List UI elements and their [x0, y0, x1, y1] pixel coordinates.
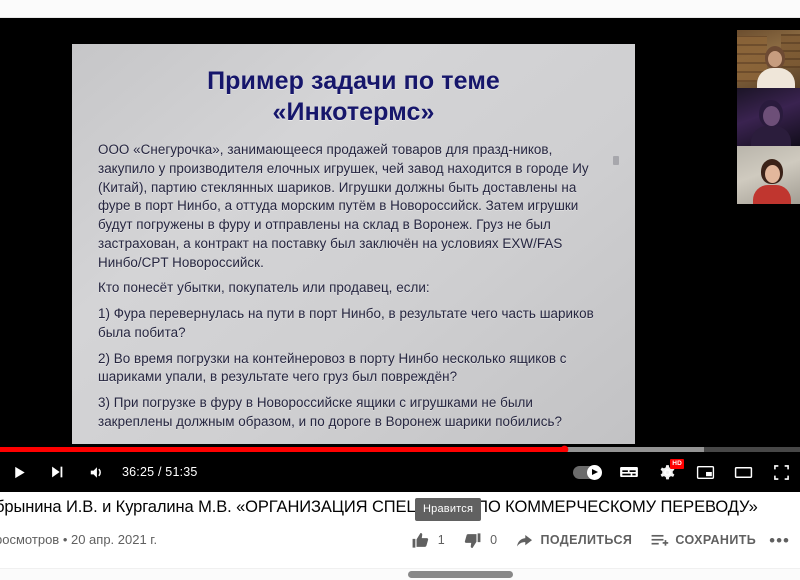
video-views-and-date: просмотров • 20 апр. 2021 г. [0, 532, 157, 547]
share-label: ПОДЕЛИТЬСЯ [540, 533, 632, 547]
page-top-strip [0, 0, 800, 18]
next-video-button[interactable] [38, 452, 76, 492]
video-player[interactable]: Пример задачи по теме «Инкотермс» ООО «С… [0, 18, 800, 492]
slide-prompt: Кто понесёт убытки, покупатель или прода… [98, 279, 609, 298]
like-button[interactable]: 1 [402, 526, 454, 554]
slide-question-2: 2) Во время погрузки на контейнеровоз в … [98, 350, 609, 388]
slide-question-3: 3) При погрузке в фуру в Новороссийске я… [98, 394, 609, 432]
play-icon [11, 464, 28, 481]
save-button[interactable]: СОХРАНИТЬ [641, 526, 765, 554]
webcam-column [728, 18, 800, 452]
share-button[interactable]: ПОДЕЛИТЬСЯ [506, 526, 641, 554]
participant-torso [757, 68, 795, 88]
slide-body: ООО «Снегурочка», занимающееся продажей … [98, 141, 609, 432]
slide-title: Пример задачи по теме «Инкотермс» [98, 66, 609, 127]
slide-paragraph-1: ООО «Снегурочка», занимающееся продажей … [98, 141, 609, 272]
participant-face [768, 51, 782, 67]
time-display: 36:25 / 51:35 [114, 465, 204, 479]
thumbs-up-icon [411, 531, 430, 550]
participant-torso [751, 126, 791, 146]
webcam-tile-participant-2[interactable] [737, 88, 800, 146]
autoplay-track [573, 466, 601, 479]
more-actions-button[interactable]: ••• [765, 532, 798, 549]
youtube-video-page: Пример задачи по теме «Инкотермс» ООО «С… [0, 0, 800, 580]
video-stage[interactable]: Пример задачи по теме «Инкотермс» ООО «С… [0, 18, 800, 452]
webcam-tile-participant-3[interactable] [737, 146, 800, 204]
like-tooltip: Нравится [415, 498, 481, 521]
miniplayer-button[interactable] [686, 452, 724, 492]
subtitles-button[interactable] [610, 452, 648, 492]
next-video-icon [49, 464, 65, 480]
dislike-count: 0 [490, 533, 497, 547]
slide-question-1: 1) Фура перевернулась на пути в порт Нин… [98, 305, 609, 343]
thumbs-down-icon [463, 531, 482, 550]
video-title: обрынина И.В. и Кургалина М.В. «ОРГАНИЗА… [0, 498, 758, 517]
participant-torso [753, 185, 791, 204]
video-meta-section: обрынина И.В. и Кургалина М.В. «ОРГАНИЗА… [0, 492, 800, 580]
autoplay-knob [587, 465, 602, 480]
theater-mode-icon [734, 463, 753, 482]
fullscreen-button[interactable] [762, 452, 800, 492]
hd-quality-badge: HD [670, 459, 684, 469]
volume-button[interactable] [76, 452, 114, 492]
horizontal-scrollbar-thumb[interactable] [408, 571, 513, 578]
settings-button[interactable]: HD [648, 452, 686, 492]
dislike-button[interactable]: 0 [454, 526, 506, 554]
save-label: СОХРАНИТЬ [675, 533, 756, 547]
webcam-tile-participant-1[interactable] [737, 30, 800, 88]
autoplay-toggle[interactable] [564, 452, 610, 492]
mouse-cursor-icon [613, 156, 619, 165]
presentation-slide: Пример задачи по теме «Инкотермс» ООО «С… [72, 44, 635, 444]
fullscreen-icon [772, 463, 791, 482]
like-count: 1 [438, 533, 445, 547]
theater-mode-button[interactable] [724, 452, 762, 492]
player-controls: 36:25 / 51:35 [0, 452, 800, 492]
horizontal-scrollbar[interactable] [0, 568, 800, 580]
volume-icon [87, 464, 104, 481]
video-action-buttons: 1 0 ПОДЕЛИТЬСЯ [402, 526, 798, 554]
participant-face [763, 106, 780, 126]
participant-face [765, 165, 780, 183]
slide-title-line-1: Пример задачи по теме [98, 66, 609, 97]
subtitles-icon [619, 462, 639, 482]
save-to-playlist-icon [650, 531, 669, 550]
share-arrow-icon [515, 531, 534, 550]
slide-title-line-2: «Инкотермс» [98, 97, 609, 128]
play-button[interactable] [0, 452, 38, 492]
miniplayer-icon [696, 463, 715, 482]
